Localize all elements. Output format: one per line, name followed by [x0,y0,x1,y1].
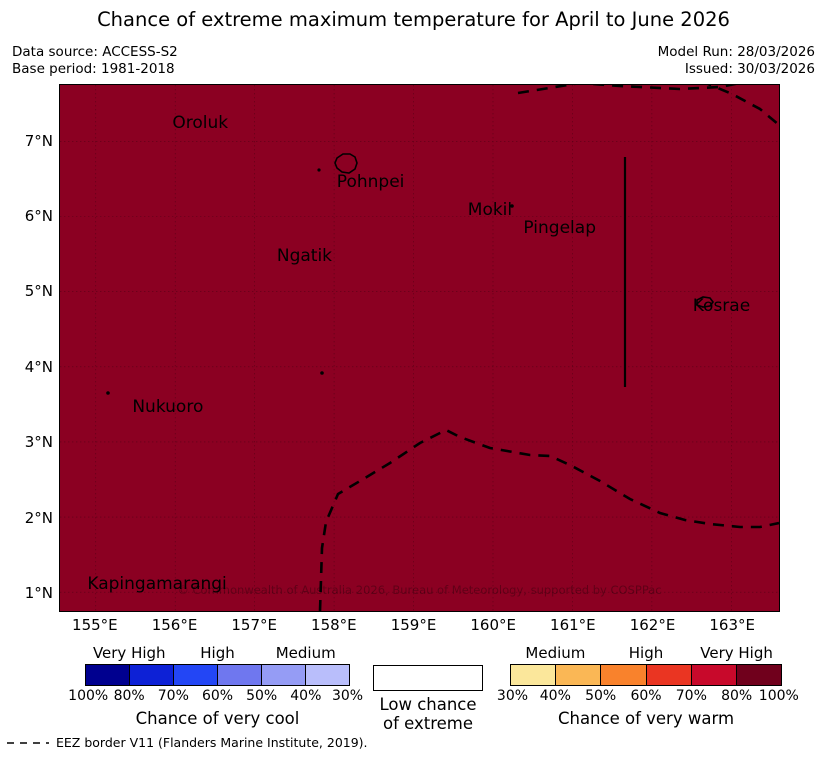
x-tick-label: 162°E [630,616,676,634]
legend-low-swatch [373,665,483,691]
legend-category-label: High [200,644,234,662]
legend-tick-label: 100% [759,688,799,704]
x-tick-label: 157°E [231,616,277,634]
y-axis: 7°N6°N5°N4°N3°N2°N1°N [0,84,53,612]
map-plot-area[interactable]: © Commonwealth of Australia 2026, Bureau… [59,84,780,612]
y-tick-label: 2°N [1,509,53,527]
legend-tick-label: 70% [676,688,707,704]
legend-color-swatch[interactable] [86,665,130,685]
x-tick-label: 159°E [391,616,437,634]
legend-color-swatch[interactable] [174,665,218,685]
legend-warm-categories: MediumHighVery High [510,644,782,664]
legend-very-cool: Very HighHighMedium 100%80%70%60%50%40%3… [85,644,350,728]
legend-tick-label: 60% [202,688,233,704]
map-label-kosrae: Kosrae [693,296,750,316]
issued-text: Issued: 30/03/2026 [658,61,815,78]
eez-border-topright [701,85,779,125]
y-tick-label: 1°N [1,584,53,602]
x-tick-label: 160°E [470,616,516,634]
legend-tick-label: 70% [158,688,189,704]
legend-color-swatch[interactable] [556,665,601,685]
metadata-left: Data source: ACCESS-S2 Base period: 1981… [12,44,178,77]
y-tick-label: 7°N [1,132,53,150]
atoll-dot-ngatik [320,371,324,375]
x-tick-label: 158°E [311,616,357,634]
y-tick-label: 6°N [1,207,53,225]
legend-tick-label: 40% [290,688,321,704]
legend-color-swatch[interactable] [737,665,781,685]
model-run-text: Model Run: 28/03/2026 [658,44,815,61]
legend-warm-ticks: 30%40%50%60%70%80%100% [510,688,782,708]
legend-low-chance: Low chance of extreme [373,665,483,733]
legend-color-swatch[interactable] [218,665,262,685]
map-vector-layer [60,85,779,611]
footer-note-text: EEZ border V11 (Flanders Marine Institut… [56,735,368,750]
legend-low-caption: Low chance of extreme [373,695,483,733]
legend-tick-label: 30% [332,688,363,704]
page-title: Chance of extreme maximum temperature fo… [0,8,827,31]
map-label-pingelap: Pingelap [523,218,596,238]
x-tick-label: 156°E [152,616,198,634]
legend-tick-label: 80% [721,688,752,704]
legend-tick-label: 50% [585,688,616,704]
eez-dash-sample-icon [6,738,50,748]
metadata-right: Model Run: 28/03/2026 Issued: 30/03/2026 [658,44,815,77]
legend-tick-label: 40% [540,688,571,704]
legend-color-swatch[interactable] [306,665,349,685]
legend-warm-caption: Chance of very warm [510,709,782,728]
map-label-ngatik: Ngatik [277,246,332,266]
legend-low-caption-line2: of extreme [373,714,483,733]
base-period-text: Base period: 1981-2018 [12,61,178,78]
legend-tick-label: 100% [68,688,108,704]
legend-color-swatch[interactable] [130,665,174,685]
map-label-mokil: Mokil [468,200,512,220]
legend-color-swatch[interactable] [511,665,556,685]
x-tick-label: 163°E [709,616,755,634]
atoll-dot-ant [317,168,320,171]
legend-color-swatch[interactable] [647,665,692,685]
pohnpei-island-outline [335,154,357,173]
map-label-nukuoro: Nukuoro [132,397,203,417]
x-tick-label: 161°E [550,616,596,634]
legend-tick-label: 80% [114,688,145,704]
atoll-dot-nukuoro [106,391,110,395]
copyright-watermark: © Commonwealth of Australia 2026, Bureau… [177,583,661,597]
legend-category-label: Medium [276,644,336,662]
legend-tick-label: 60% [630,688,661,704]
eez-border-top [518,85,750,93]
x-tick-label: 155°E [72,616,118,634]
legend-cool-ticks: 100%80%70%60%50%40%30% [85,688,350,708]
map-label-oroluk: Oroluk [172,113,228,133]
legend-color-swatch[interactable] [262,665,306,685]
legend-category-label: Very High [93,644,166,662]
map-label-pohnpei: Pohnpei [337,172,405,192]
legend-cool-caption: Chance of very cool [85,709,350,728]
y-tick-label: 3°N [1,433,53,451]
y-tick-label: 4°N [1,358,53,376]
legend-tick-label: 30% [497,688,528,704]
legend-color-swatch[interactable] [601,665,646,685]
legend-tick-label: 50% [246,688,277,704]
legend-color-swatch[interactable] [692,665,737,685]
map-label-kapingamarangi: Kapingamarangi [87,574,226,594]
footer-note: EEZ border V11 (Flanders Marine Institut… [6,735,368,750]
data-source-text: Data source: ACCESS-S2 [12,44,178,61]
y-tick-label: 5°N [1,282,53,300]
legend-category-label: Very High [700,644,773,662]
legend-category-label: High [629,644,663,662]
legend-very-warm: MediumHighVery High 30%40%50%60%70%80%10… [510,644,782,728]
legend-low-caption-line1: Low chance [373,695,483,714]
legend-category-label: Medium [525,644,585,662]
legend-warm-colorbar [510,664,782,686]
legend-cool-colorbar [85,664,350,686]
x-axis: 155°E156°E157°E158°E159°E160°E161°E162°E… [59,616,780,638]
legend-cool-categories: Very HighHighMedium [85,644,350,664]
